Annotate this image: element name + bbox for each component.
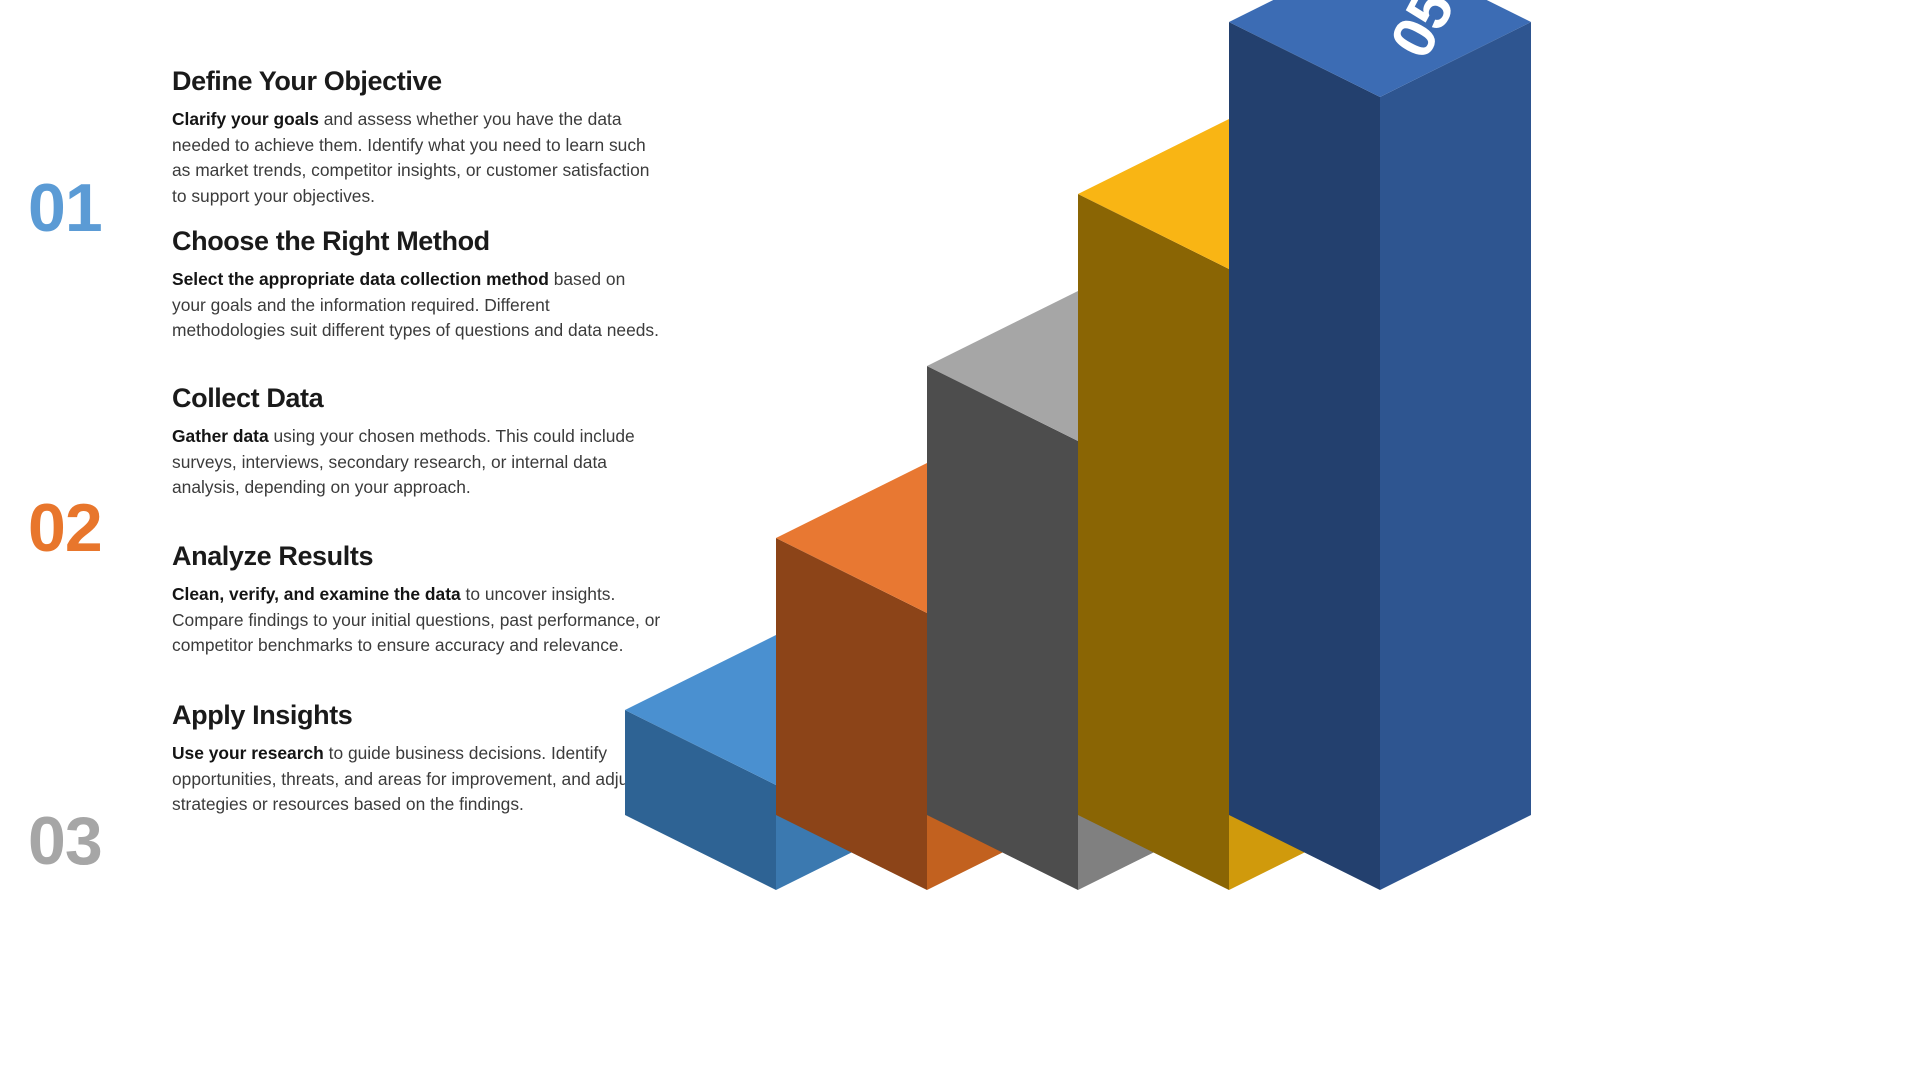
step-body-03: Gather data using your chosen methods. T… <box>172 424 662 501</box>
step-body-05: Use your research to guide business deci… <box>172 741 662 818</box>
step-lead-05: Use your research <box>172 743 324 763</box>
step-title-05: Apply Insights <box>172 700 662 730</box>
step-title-02: Choose the Right Method <box>172 226 662 256</box>
staircase-step-03-left-face <box>927 366 1078 890</box>
steps-list: 01 Define Your Objective Clarify your go… <box>0 0 680 1080</box>
infographic-page: 01 Define Your Objective Clarify your go… <box>0 0 1920 1080</box>
step-number-03: 03 <box>28 807 168 875</box>
staircase-svg: 0102030405 <box>600 20 1920 860</box>
step-body-01: Clarify your goals and assess whether yo… <box>172 107 662 209</box>
step-lead-04: Clean, verify, and examine the data <box>172 584 461 604</box>
step-content-01: Define Your Objective Clarify your goals… <box>172 66 662 210</box>
step-lead-03: Gather data <box>172 426 269 446</box>
isometric-staircase-graphic: 0102030405 <box>600 20 1920 860</box>
step-title-04: Analyze Results <box>172 541 662 571</box>
step-lead-01: Clarify your goals <box>172 109 319 129</box>
step-lead-02: Select the appropriate data collection m… <box>172 269 549 289</box>
staircase-step-05-right-face <box>1380 22 1531 890</box>
step-content-03: Collect Data Gather data using your chos… <box>172 383 662 501</box>
step-number-02: 02 <box>28 494 168 562</box>
step-title-03: Collect Data <box>172 383 662 413</box>
step-content-02: Choose the Right Method Select the appro… <box>172 226 662 344</box>
step-body-04: Clean, verify, and examine the data to u… <box>172 582 662 659</box>
step-body-02: Select the appropriate data collection m… <box>172 267 662 344</box>
step-number-01: 01 <box>28 174 168 242</box>
staircase-step-05-left-face <box>1229 22 1380 890</box>
step-title-01: Define Your Objective <box>172 66 662 96</box>
step-content-05: Apply Insights Use your research to guid… <box>172 700 662 818</box>
staircase-step-04-left-face <box>1078 194 1229 890</box>
step-content-04: Analyze Results Clean, verify, and exami… <box>172 541 662 659</box>
